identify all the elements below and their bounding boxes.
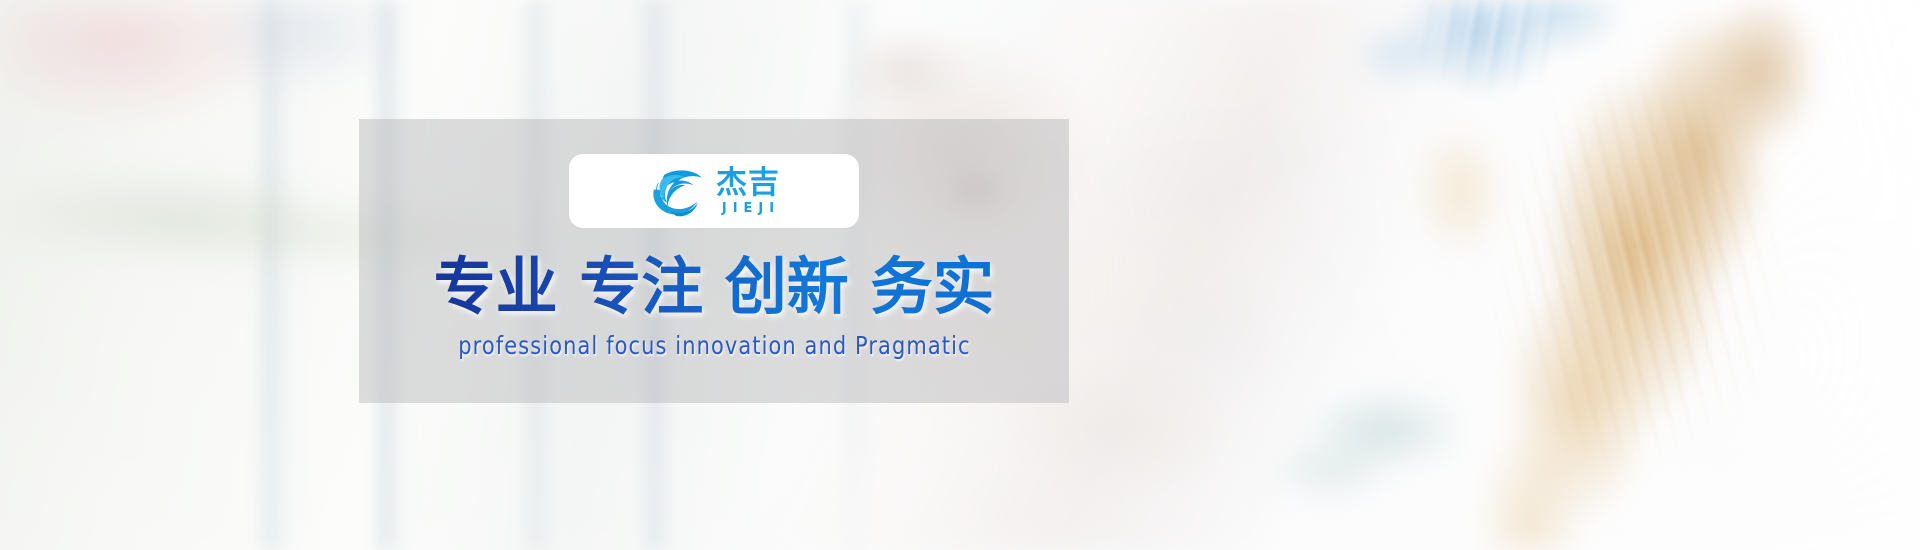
- swirl-vortex-icon: [648, 162, 706, 220]
- logo-chinese-name: 杰吉: [716, 168, 780, 199]
- brand-logo[interactable]: 杰吉 JIEJI: [569, 154, 859, 228]
- hero-banner: 杰吉 JIEJI 专业 专注 创新 务实 professional focus …: [0, 0, 1920, 550]
- overlay-panel: 杰吉 JIEJI 专业 专注 创新 务实 professional focus …: [359, 119, 1069, 403]
- logo-pinyin: JIEJI: [716, 202, 780, 215]
- slogan-english: professional focus innovation and Pragma…: [458, 331, 970, 360]
- slogan-chinese: 专业 专注 创新 务实: [434, 254, 995, 319]
- logo-wordmark: 杰吉 JIEJI: [716, 168, 780, 215]
